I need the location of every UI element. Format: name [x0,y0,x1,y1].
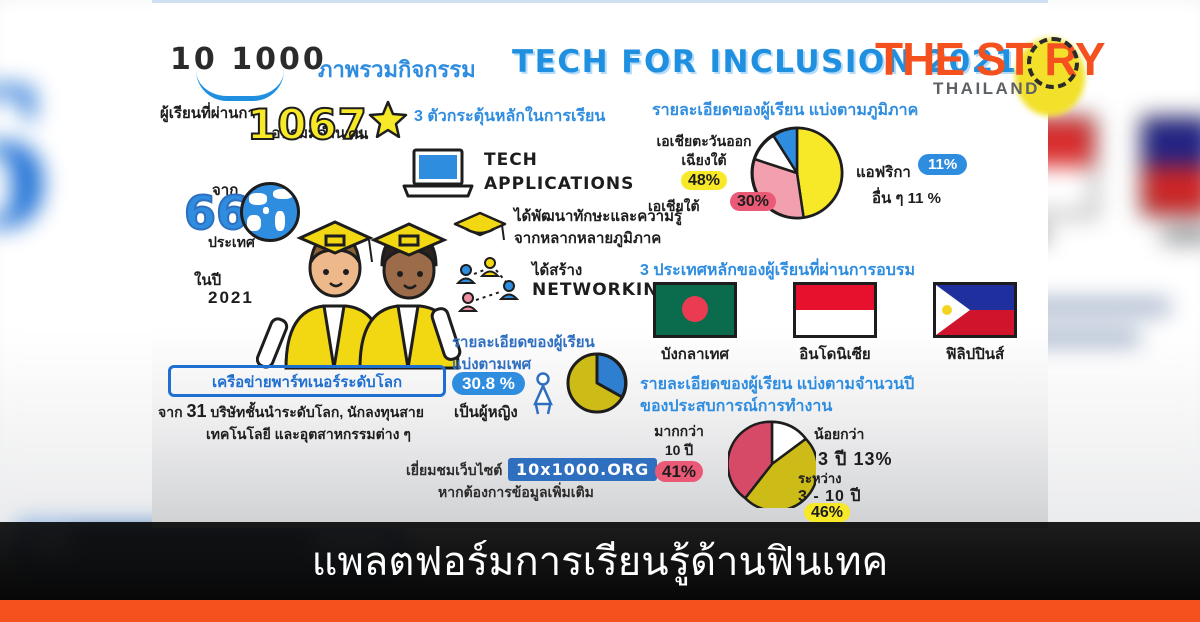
caption-text: แพลตฟอร์มการเรียนรู้ด้านฟินเทค [312,529,889,593]
partner-text-line1: บริษัทชั้นนำระดับโลก, นักลงทุนสาย [210,404,424,420]
website-prefix: เยี่ยมชมเว็บไซต์ [406,460,502,482]
region-label-africa: แอฟริกา [856,160,911,184]
logo-10x1000: 10 1000 [170,42,330,98]
the-story-logo-subtitle: THAILAND [933,79,1040,99]
graduation-cap-icon [452,210,508,244]
screenshot-stage: 66 10 1000 ภาพรวมกิจกรรม TECH [0,0,1200,622]
exp-l1-line2: 10 ปี [632,441,726,460]
partner-network-title: เครือข่ายพาร์ทเนอร์ระดับโลก [171,370,443,394]
laptop-icon [402,148,474,202]
flag-indonesia-icon [793,282,877,338]
region-l3-percent: 11% [918,154,967,175]
networking-people-icon [454,256,524,312]
gender-heading-line1: รายละเอียดของผู้เรียน [452,330,595,354]
driver2-line2: จากหลากหลายภูมิภาค [514,228,682,250]
country-item-indonesia: อินโดนิเซีย [780,282,890,366]
drivers-heading: 3 ตัวกระตุ้นหลักในการเรียน [414,104,605,129]
orange-bottom-bar [0,600,1200,622]
countries-unit: ประเทศ [208,232,255,254]
partner-text-line2: เทคโนโลยี และอุตสาหกรรมต่าง ๆ [158,423,458,445]
region-l1-line2: เฉียงใต้ [644,151,764,170]
region-label-south-asia: เอเชียใต้ [648,196,700,218]
country2-name: อินโดนิเซีย [780,342,890,366]
flag-philippines-icon [933,282,1017,338]
caption-bar: แพลตฟอร์มการเรียนรู้ด้านฟินเทค [0,522,1200,600]
exp-l3-percent: 46% [804,503,850,522]
country3-name: ฟิลิปปินส์ [920,342,1030,366]
driver3-line1: ได้สร้าง [532,258,582,282]
partner-network-box: เครือข่ายพาร์ทเนอร์ระดับโลก [168,365,446,397]
female-icon [530,372,556,416]
experience-label-over10: มากกว่า 10 ปี [632,422,726,460]
exp-l2-line1: น้อยกว่า [814,424,864,446]
partner-count: 31 [186,401,206,421]
countries-heading: 3 ประเทศหลักของผู้เรียนที่ผ่านการอบรม [640,258,915,283]
exp-l1-line1: มากกว่า [632,422,726,441]
driver1-line2: APPLICATIONS [484,172,634,196]
partner-from-label: จาก [158,404,183,420]
region-l2-percent: 30% [730,192,776,211]
star-icon [368,100,408,138]
region-label-southeast-asia: เอเชียตะวันออก เฉียงใต้ [644,132,764,170]
experience-heading-line2: ของประสบการณ์การทำงาน [640,394,832,419]
gender-pie-chart [566,352,628,414]
region-l1-line1: เอเชียตะวันออก [644,132,764,151]
page-title-thai: ภาพรวมกิจกรรม [318,52,476,87]
exp-l1-percent: 41% [655,461,703,482]
learners-unit: คน [348,122,368,146]
year-value: 2021 [208,288,254,308]
logo-smile-curve [196,70,284,101]
gender-percent: 30.8 % [452,372,525,395]
country-item-philippines: ฟิลิปปินส์ [920,282,1030,366]
the-story-thailand-logo: THE ST RY THAILAND [875,32,1155,102]
flag-bangladesh-icon [653,282,737,338]
region-label-others: อื่น ๆ 11 % [872,186,941,210]
driver-tech-applications: TECH APPLICATIONS [484,148,634,196]
website-suffix: หากต้องการข้อมูลเพิ่มเติม [438,482,594,504]
country-item-bangladesh: บังกลาเทศ [640,282,750,366]
gender-label: เป็นผู้หญิง [454,400,518,424]
top-countries-row: บังกลาเทศ อินโดนิเซีย ฟิลิปปินส์ [640,282,1030,366]
partner-network-detail: จาก 31 บริษัทชั้นนำระดับโลก, นักลงทุนสาย… [158,400,458,445]
driver1-line1: TECH [484,148,634,172]
graduates-illustration [256,190,466,370]
country1-name: บังกลาเทศ [640,342,750,366]
region-l1-percent: 48% [681,171,727,190]
